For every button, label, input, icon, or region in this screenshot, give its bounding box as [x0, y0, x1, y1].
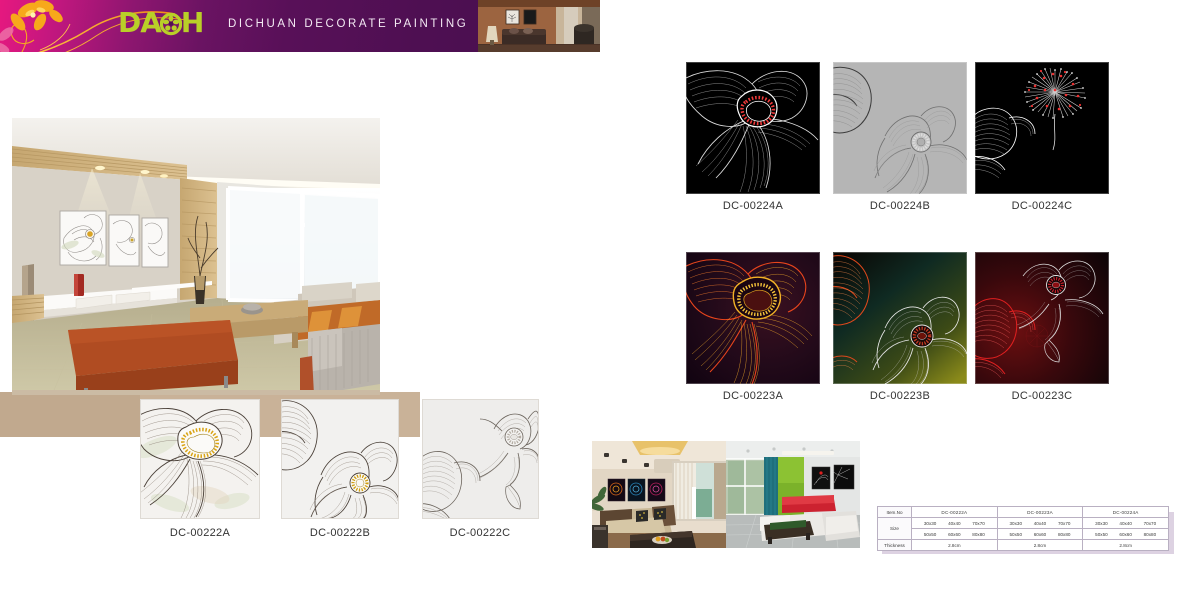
art-panel-dc-00224c[interactable] [975, 62, 1109, 194]
size-cell-1a: 30x30 40x40 70x70 [912, 518, 998, 529]
art-panel-dc-00223c[interactable] [975, 252, 1109, 384]
size-value: 70x70 [966, 521, 990, 526]
row-label-thickness: Thickness [878, 540, 912, 551]
art-panel-dc-00222c[interactable] [422, 399, 539, 519]
frame-border [281, 399, 399, 519]
frame-border [422, 399, 539, 519]
row-label-size: Size [878, 518, 912, 540]
size-value: 50x50 [1004, 532, 1028, 537]
product-label-dc-00224a: DC-00224A [673, 200, 833, 212]
size-value: 30x30 [1004, 521, 1028, 526]
brand-tagline: DICHUAN DECORATE PAINTING [228, 18, 468, 30]
art-panel-dc-00224a[interactable] [686, 62, 820, 194]
size-value: 60x60 [1028, 532, 1052, 537]
frame-border [975, 62, 1109, 194]
size-cell-2a: 30x30 40x40 70x70 [997, 518, 1083, 529]
frame-border [686, 62, 820, 194]
art-panel-dc-00223a[interactable] [686, 252, 820, 384]
size-cell-3b: 50x50 60x60 80x80 [1083, 529, 1169, 540]
header-banner: DA H DICHUAN DECORATE PAINTING [0, 0, 600, 52]
size-value: 80x80 [1052, 532, 1076, 537]
room-photo-warm [592, 441, 726, 548]
size-cell-3a: 30x30 40x40 70x70 [1083, 518, 1169, 529]
size-value: 30x30 [1089, 521, 1113, 526]
product-label-dc-00224c: DC-00224C [962, 200, 1122, 212]
product-label-dc-00223a: DC-00223A [673, 390, 833, 402]
table-row-thickness: Thickness 2.8cm 2.8cm 2.8cm [878, 540, 1169, 551]
size-value: 50x50 [918, 532, 942, 537]
product-label-dc-00223c: DC-00223C [962, 390, 1122, 402]
product-label-dc-00222b: DC-00222B [260, 527, 420, 539]
size-value: 70x70 [1052, 521, 1076, 526]
art-panel-dc-00222b[interactable] [281, 399, 399, 519]
size-value: 60x60 [942, 532, 966, 537]
room-photo-modern [726, 441, 860, 548]
size-value: 50x50 [1089, 532, 1113, 537]
logo-text-left: DA [118, 9, 161, 37]
frame-border [833, 62, 967, 194]
thickness-cell-2: 2.8cm [997, 540, 1083, 551]
size-value: 30x30 [918, 521, 942, 526]
frame-border [140, 399, 260, 519]
table-row-size-2: 50x50 60x60 80x80 50x50 60x60 80x80 50x5… [878, 529, 1169, 540]
thickness-cell-1: 2.8cm [912, 540, 998, 551]
flower-logo-icon [160, 10, 182, 36]
col-header-3: DC-00224A [1083, 507, 1169, 518]
col-header-1: DC-00222A [912, 507, 998, 518]
size-value: 70x70 [1138, 521, 1162, 526]
banner-room-photo [478, 0, 600, 52]
living-room-render [12, 118, 380, 395]
thickness-cell-3: 2.8cm [1083, 540, 1169, 551]
product-label-dc-00222a: DC-00222A [120, 527, 280, 539]
art-panel-dc-00222a[interactable] [140, 399, 260, 519]
product-label-dc-00223b: DC-00223B [820, 390, 980, 402]
specification-table: Item.No DC-00222A DC-00223A DC-00224A Si… [877, 506, 1169, 551]
brand-logo[interactable]: DA H [118, 9, 203, 37]
art-panel-dc-00224b[interactable] [833, 62, 967, 194]
frame-border [833, 252, 967, 384]
size-cell-2b: 50x50 60x60 80x80 [997, 529, 1083, 540]
beige-accent-band-dark [0, 392, 140, 437]
size-value: 80x80 [966, 532, 990, 537]
row-label-item-no: Item.No [878, 507, 912, 518]
size-value: 60x60 [1114, 532, 1138, 537]
table-row-item-no: Item.No DC-00222A DC-00223A DC-00224A [878, 507, 1169, 518]
logo-text-right: H [181, 9, 203, 37]
col-header-2: DC-00223A [997, 507, 1083, 518]
table-row-size: Size 30x30 40x40 70x70 30x30 40x40 70x70… [878, 518, 1169, 529]
size-value: 40x40 [942, 521, 966, 526]
product-label-dc-00222c: DC-00222C [400, 527, 560, 539]
dual-room-photos [592, 441, 860, 548]
size-cell-1b: 50x50 60x60 80x80 [912, 529, 998, 540]
frame-border [975, 252, 1109, 384]
catalog-page: DA H DICHUAN DECORATE PAINTING [0, 0, 1181, 591]
art-panel-dc-00223b[interactable] [833, 252, 967, 384]
size-value: 80x80 [1138, 532, 1162, 537]
product-label-dc-00224b: DC-00224B [820, 200, 980, 212]
frame-border [686, 252, 820, 384]
size-value: 40x40 [1114, 521, 1138, 526]
size-value: 40x40 [1028, 521, 1052, 526]
